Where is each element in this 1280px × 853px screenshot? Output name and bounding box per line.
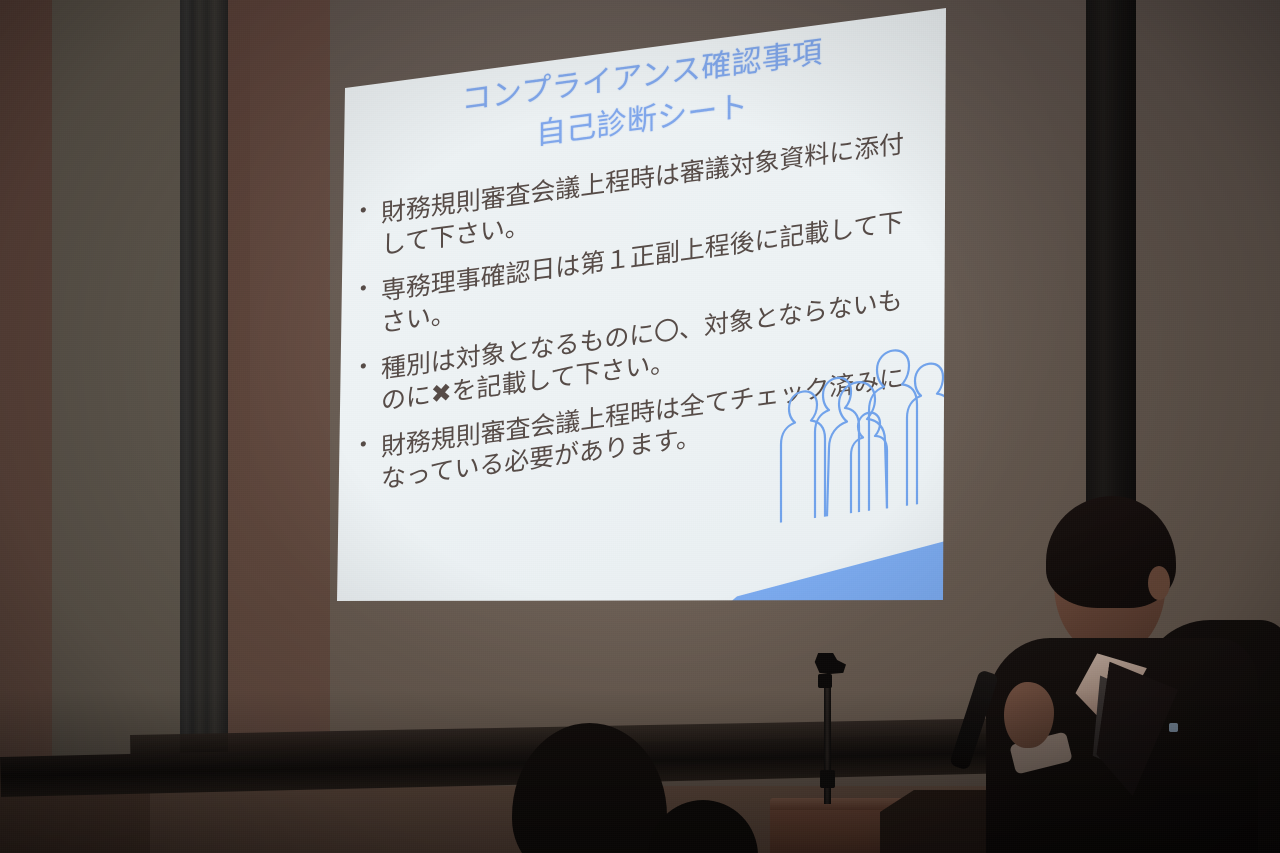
presenter-hand <box>1004 682 1054 748</box>
presenter-lapel-pin <box>1169 723 1178 732</box>
slide-bullet-list: 財務規則審査会議上程時は審議対象資料に添付して下さい。 専務理事確認日は第１正副… <box>335 122 949 503</box>
curtain-left <box>180 0 228 788</box>
photo-scene: コンプライアンス確認事項 自己診断シート 財務規則審査会議上程時は審議対象資料に… <box>0 0 1280 853</box>
projection-screen: コンプライアンス確認事項 自己診断シート 財務規則審査会議上程時は審議対象資料に… <box>335 4 949 608</box>
microphone-stand-base-collar <box>820 770 835 788</box>
presenter-figure <box>950 470 1280 853</box>
presenter-ear <box>1148 566 1170 600</box>
slide-content: コンプライアンス確認事項 自己診断シート 財務規則審査会議上程時は審議対象資料に… <box>335 6 949 608</box>
microphone-gooseneck <box>818 674 832 688</box>
wall-panel-left <box>52 0 180 800</box>
projected-slide: コンプライアンス確認事項 自己診断シート 財務規則審査会議上程時は審議対象資料に… <box>335 6 949 692</box>
